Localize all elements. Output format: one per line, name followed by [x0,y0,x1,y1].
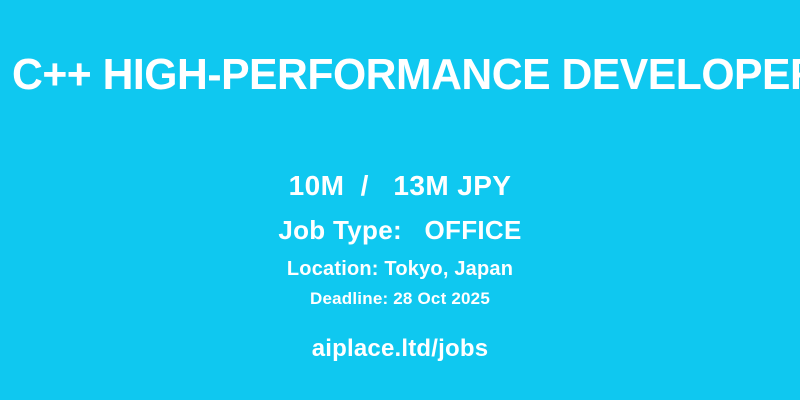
apply-url[interactable]: aiplace.ltd/jobs [0,337,800,361]
salary-range: 10M / 13M JPY [0,172,800,200]
deadline: Deadline: 28 Oct 2025 [0,290,800,307]
job-posting-card: C++ HIGH-PERFORMANCE DEVELOPER 10M / 13M… [0,0,800,400]
location: Location: Tokyo, Japan [0,259,800,279]
job-type: Job Type: OFFICE [0,217,800,243]
page-title: C++ HIGH-PERFORMANCE DEVELOPER [12,53,788,97]
